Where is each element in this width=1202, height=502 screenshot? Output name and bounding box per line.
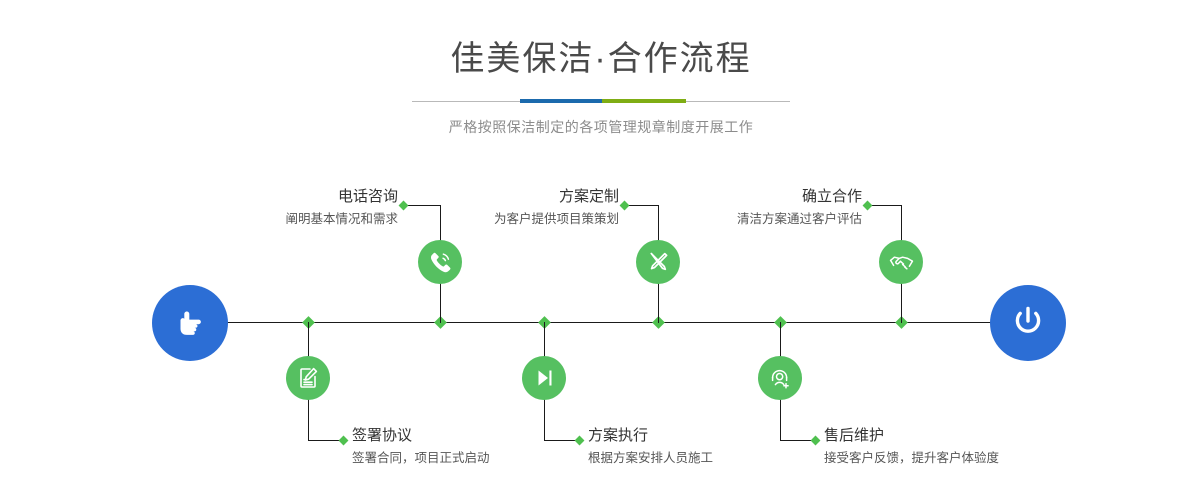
step-label: 方案定制 为客户提供项目策策划	[370, 188, 619, 228]
page-title: 佳美保洁·合作流程	[0, 0, 1202, 76]
step-title: 售后维护	[824, 427, 999, 445]
step-desc: 根据方案安排人员施工	[588, 450, 713, 467]
flow-diagram-page: 佳美保洁·合作流程 严格按照保洁制定的各项管理规章制度开展工作	[0, 0, 1202, 502]
step-label: 售后维护 接受客户反馈，提升客户体验度	[824, 427, 999, 467]
step-desc: 接受客户反馈，提升客户体验度	[824, 450, 999, 467]
step-title: 确立合作	[610, 188, 862, 206]
step-icon-circle	[758, 356, 802, 400]
step-label: 确立合作 清洁方案通过客户评估	[610, 188, 862, 228]
step-icon-circle	[879, 240, 923, 284]
connector-horizontal	[868, 205, 902, 206]
step-title: 方案定制	[370, 188, 619, 206]
step-title: 电话咨询	[150, 188, 398, 206]
flow-start-node	[152, 285, 228, 361]
handshake-icon	[888, 249, 915, 276]
customer-support-icon	[767, 365, 793, 391]
step-desc: 为客户提供项目策策划	[370, 211, 619, 228]
pointing-hand-icon	[170, 303, 210, 343]
step-icon-circle	[418, 240, 462, 284]
label-diamond	[339, 436, 349, 446]
step-desc: 阐明基本情况和需求	[150, 211, 398, 228]
label-diamond	[575, 436, 585, 446]
divider-blue-segment	[520, 99, 602, 103]
flow-end-node	[990, 285, 1066, 361]
step-icon-circle	[636, 240, 680, 284]
page-subtitle: 严格按照保洁制定的各项管理规章制度开展工作	[0, 117, 1202, 137]
step-label: 方案执行 根据方案安排人员施工	[588, 427, 713, 467]
divider-green-segment	[602, 99, 686, 103]
step-desc: 签署合同，项目正式启动	[352, 450, 490, 467]
step-title: 方案执行	[588, 427, 713, 445]
step-title: 签署协议	[352, 427, 490, 445]
title-divider	[412, 96, 790, 108]
label-diamond	[811, 436, 821, 446]
signed-document-icon	[295, 365, 321, 391]
step-desc: 清洁方案通过客户评估	[610, 211, 862, 228]
label-diamond	[863, 201, 873, 211]
step-label: 签署协议 签署合同，项目正式启动	[352, 427, 490, 467]
pen-design-icon	[645, 249, 671, 275]
step-label: 电话咨询 阐明基本情况和需求	[150, 188, 398, 228]
timeline-axis	[160, 322, 1042, 323]
step-icon-circle	[286, 356, 330, 400]
phone-call-icon	[427, 249, 453, 275]
power-icon	[1007, 302, 1049, 344]
play-execute-icon	[531, 365, 557, 391]
step-icon-circle	[522, 356, 566, 400]
page-header: 佳美保洁·合作流程 严格按照保洁制定的各项管理规章制度开展工作	[0, 0, 1202, 137]
